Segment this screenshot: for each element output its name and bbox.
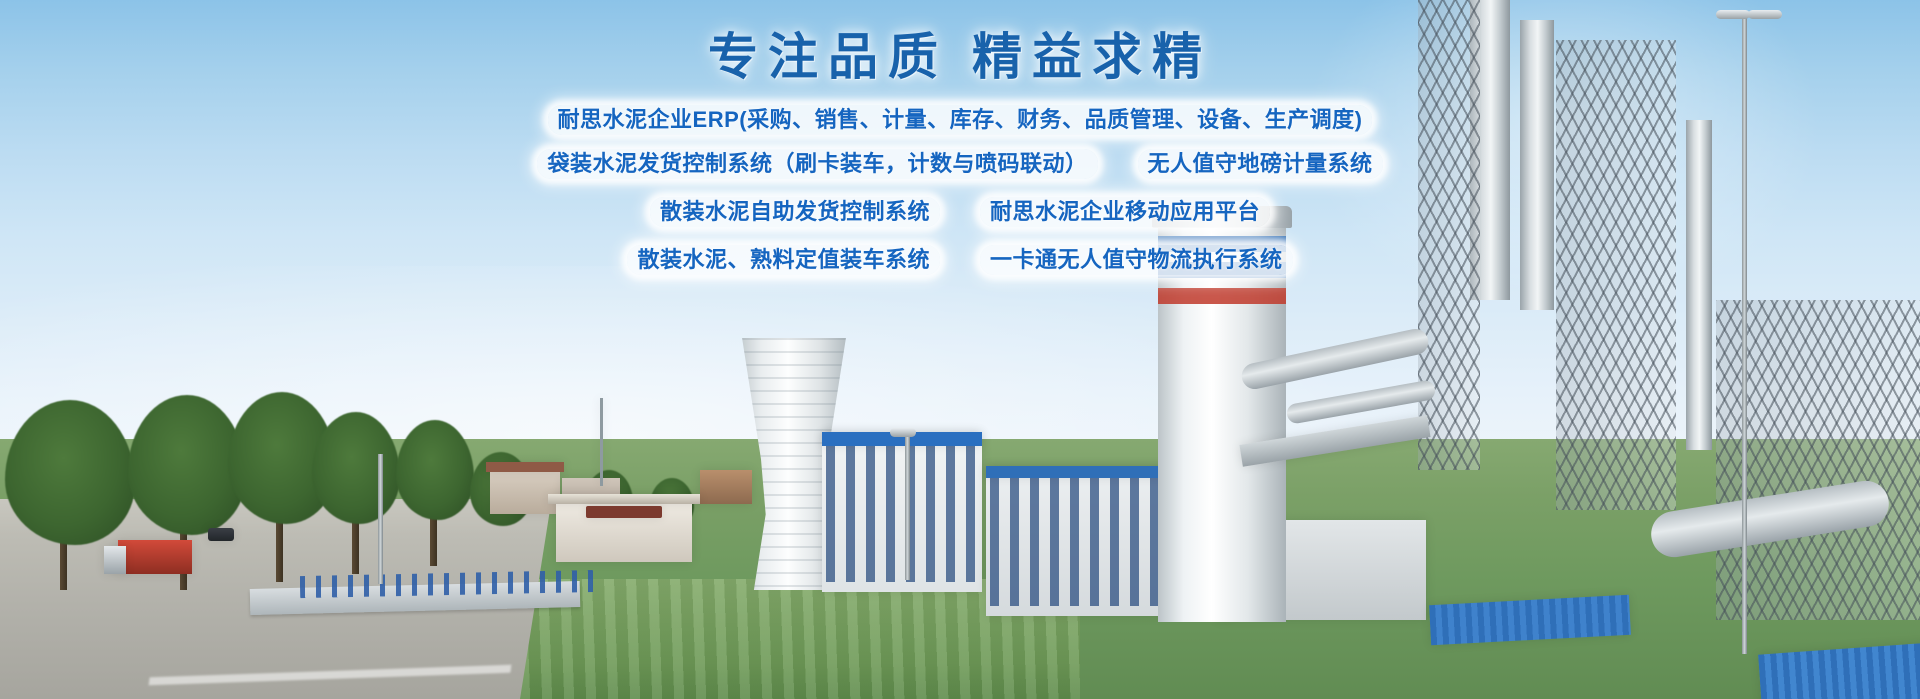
- product-item[interactable]: 耐思水泥企业ERP(采购、销售、计量、库存、财务、品质管理、设备、生产调度): [548, 105, 1373, 135]
- product-item[interactable]: 袋装水泥发货控制系统（刷卡装车，计数与喷码联动）: [537, 149, 1097, 179]
- product-line-2: 袋装水泥发货控制系统（刷卡装车，计数与喷码联动） 无人值守地磅计量系统: [0, 149, 1920, 179]
- gatehouse-sign: [586, 506, 662, 518]
- cement-silo-stripe: [1158, 288, 1286, 304]
- antenna-mast: [600, 398, 603, 486]
- village-house: [700, 470, 752, 504]
- truck: [118, 540, 192, 574]
- product-item[interactable]: 无人值守地磅计量系统: [1138, 149, 1383, 179]
- product-item[interactable]: 一卡通无人值守物流执行系统: [980, 245, 1293, 275]
- product-item[interactable]: 散装水泥、熟料定值装车系统: [627, 245, 940, 275]
- lamp-post: [905, 430, 910, 580]
- lamp-head-icon: [1716, 10, 1750, 19]
- truck-cab: [104, 546, 126, 574]
- gatehouse-roof: [548, 494, 700, 504]
- cement-silo: [1158, 222, 1286, 622]
- product-item[interactable]: 耐思水泥企业移动应用平台: [980, 197, 1270, 227]
- product-line-3: 散装水泥自助发货控制系统 耐思水泥企业移动应用平台: [0, 197, 1920, 227]
- product-line-1: 耐思水泥企业ERP(采购、销售、计量、库存、财务、品质管理、设备、生产调度): [0, 105, 1920, 135]
- lamp-head-icon: [890, 428, 916, 437]
- village-house-roof: [486, 462, 564, 472]
- lamp-post: [378, 454, 383, 584]
- product-item[interactable]: 散装水泥自助发货控制系统: [650, 197, 940, 227]
- lamp-head-icon: [1748, 10, 1782, 19]
- page-title: 专注品质 精益求精: [0, 26, 1920, 89]
- car: [208, 528, 234, 541]
- hero-banner: 专注品质 精益求精 耐思水泥企业ERP(采购、销售、计量、库存、财务、品质管理、…: [0, 0, 1920, 699]
- village-house: [490, 470, 560, 514]
- office-building: [822, 432, 982, 592]
- product-line-4: 散装水泥、熟料定值装车系统 一卡通无人值守物流执行系统: [0, 245, 1920, 275]
